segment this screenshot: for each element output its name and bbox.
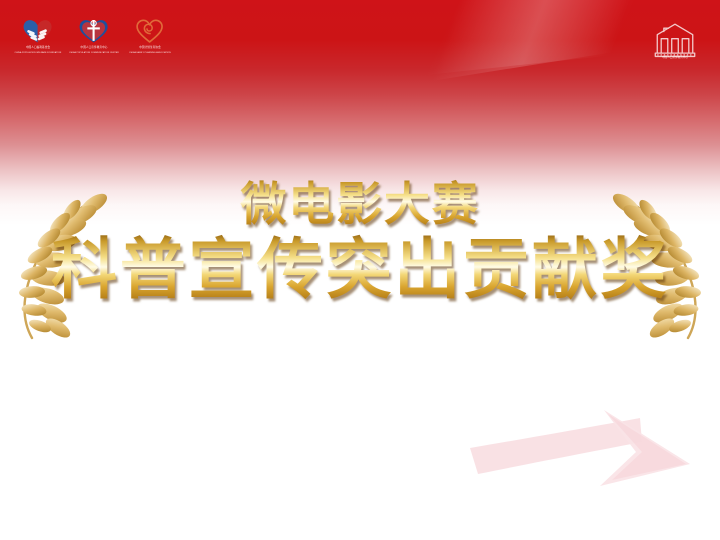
title-line-1: 微电影大赛 xyxy=(0,176,720,232)
sponsor-logo-item: 中国计划生育协会 CHINA FAMILY PLANNING ASSOCIATI… xyxy=(126,18,174,54)
award-poster: 中国人口福利基金会 CHINA POPULATION WELFARE FOUND… xyxy=(0,0,720,540)
institution-logo-caption: 中国人口宣传教育中心 xyxy=(644,56,706,59)
institution-building-icon xyxy=(652,20,698,60)
swirl-heart-icon xyxy=(134,18,165,44)
title-area: 微电影大赛 科普宣传突出贡献奖 xyxy=(0,176,720,308)
sponsor-logo-item: 中国人口福利基金会 CHINA POPULATION WELFARE FOUND… xyxy=(14,18,62,54)
title-line-2: 科普宣传突出贡献奖 xyxy=(0,232,720,308)
title-line-1-wrap: 微电影大赛 xyxy=(0,176,720,232)
sponsor-logo-caption-en: CHINA POPULATION COMMUNICATION CENTER xyxy=(68,52,120,55)
sponsor-logo-caption-cn: 中国计划生育协会 xyxy=(124,46,176,50)
sponsor-logo-caption-en: CHINA FAMILY PLANNING ASSOCIATION xyxy=(124,52,176,55)
title-line-2-wrap: 科普宣传突出贡献奖 xyxy=(0,232,720,308)
handshake-heart-icon xyxy=(22,18,53,44)
sponsor-logo-row: 中国人口福利基金会 CHINA POPULATION WELFARE FOUND… xyxy=(14,18,174,54)
sponsor-logo-caption-cn: 中国人口福利基金会 xyxy=(12,46,64,50)
medical-heart-icon xyxy=(78,18,109,44)
sponsor-logo-caption-en: CHINA POPULATION WELFARE FOUNDATION xyxy=(12,52,64,55)
sponsor-logo-caption-cn: 中国人口宣传教育中心 xyxy=(68,46,120,50)
sponsor-logo-item: 中国人口宣传教育中心 CHINA POPULATION COMMUNICATIO… xyxy=(70,18,118,54)
